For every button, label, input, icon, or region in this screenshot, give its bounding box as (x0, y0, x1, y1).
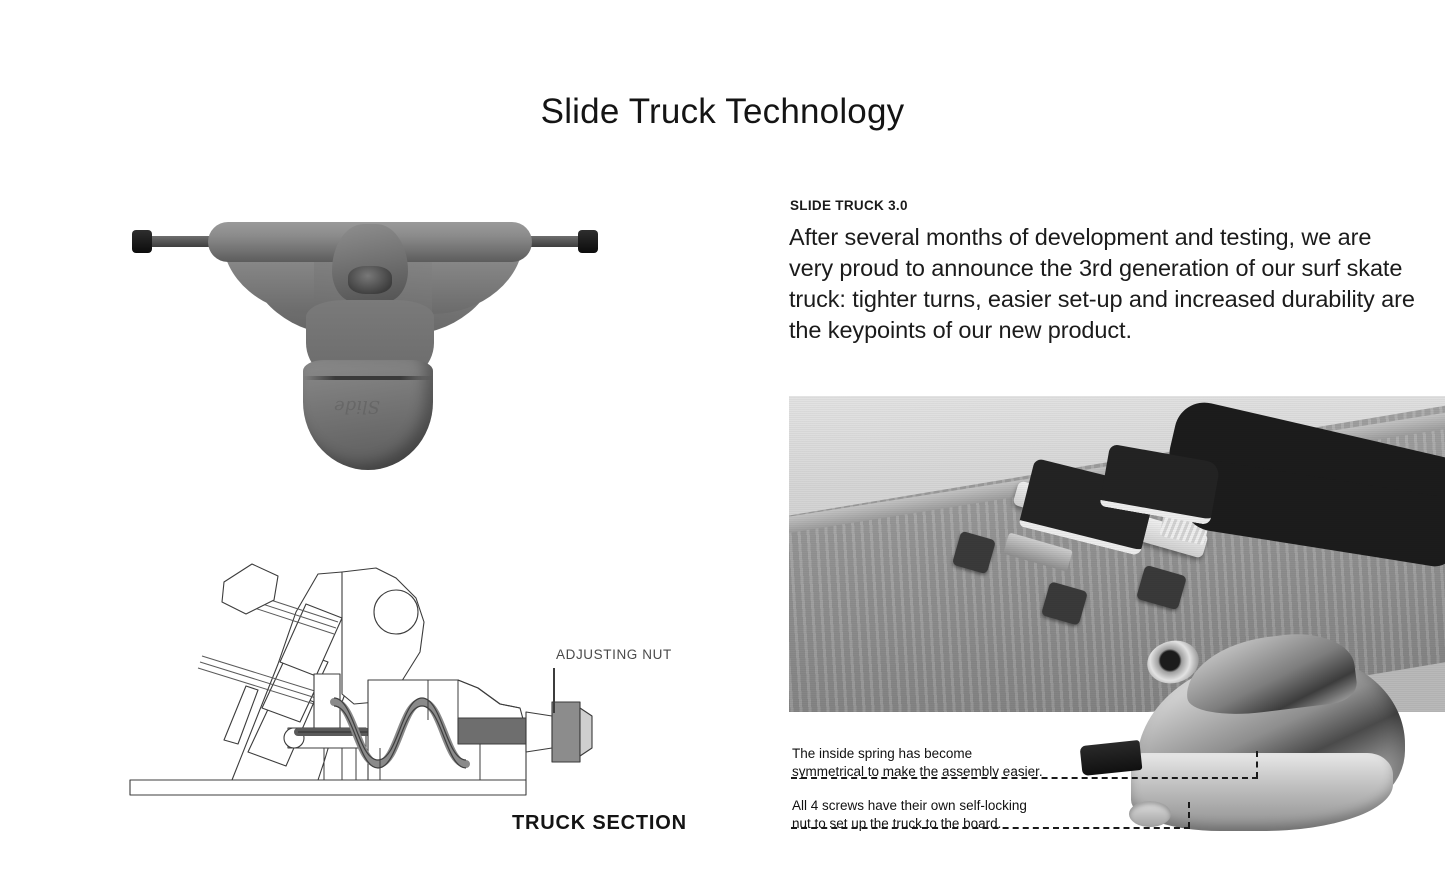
callout-screws-line-2: nut to set up the truck to the board. (792, 815, 1027, 833)
closeup-baseplate (1131, 753, 1393, 831)
callout-spring-line-1: The inside spring has become (792, 745, 1043, 763)
adjusting-nut-label: ADJUSTING NUT (556, 647, 672, 662)
truck-brand-logo: Slide (334, 396, 380, 417)
truck-closeup-photo (1085, 625, 1445, 875)
callout-spring-dashed-line (791, 777, 1258, 779)
closeup-screw-boss (1129, 801, 1171, 827)
callout-spring-pointer-tick (1256, 751, 1258, 778)
truck-section-caption: TRUCK SECTION (512, 812, 687, 835)
callout-spring: The inside spring has become symmetrical… (792, 745, 1043, 781)
callout-screws-pointer-tick (1188, 802, 1190, 828)
closeup-axle-end (1080, 740, 1143, 776)
callout-screws-line-1: All 4 screws have their own self-locking (792, 797, 1027, 815)
section-body-text: After several months of development and … (789, 222, 1421, 346)
axle-nut-right (578, 230, 598, 253)
page-title: Slide Truck Technology (0, 92, 1445, 132)
section-kicker: SLIDE TRUCK 3.0 (790, 198, 908, 213)
callout-screws-dashed-line (791, 827, 1190, 829)
truck-section-drawing (128, 552, 598, 817)
product-photo: Slide (120, 200, 620, 470)
truck-housing-seam (303, 376, 433, 380)
page-root: Slide Truck Technology Slide (0, 0, 1445, 879)
adjusting-nut-leader-line (553, 668, 555, 713)
truck-kingpin-nut (348, 266, 392, 294)
axle-nut-left (132, 230, 152, 253)
